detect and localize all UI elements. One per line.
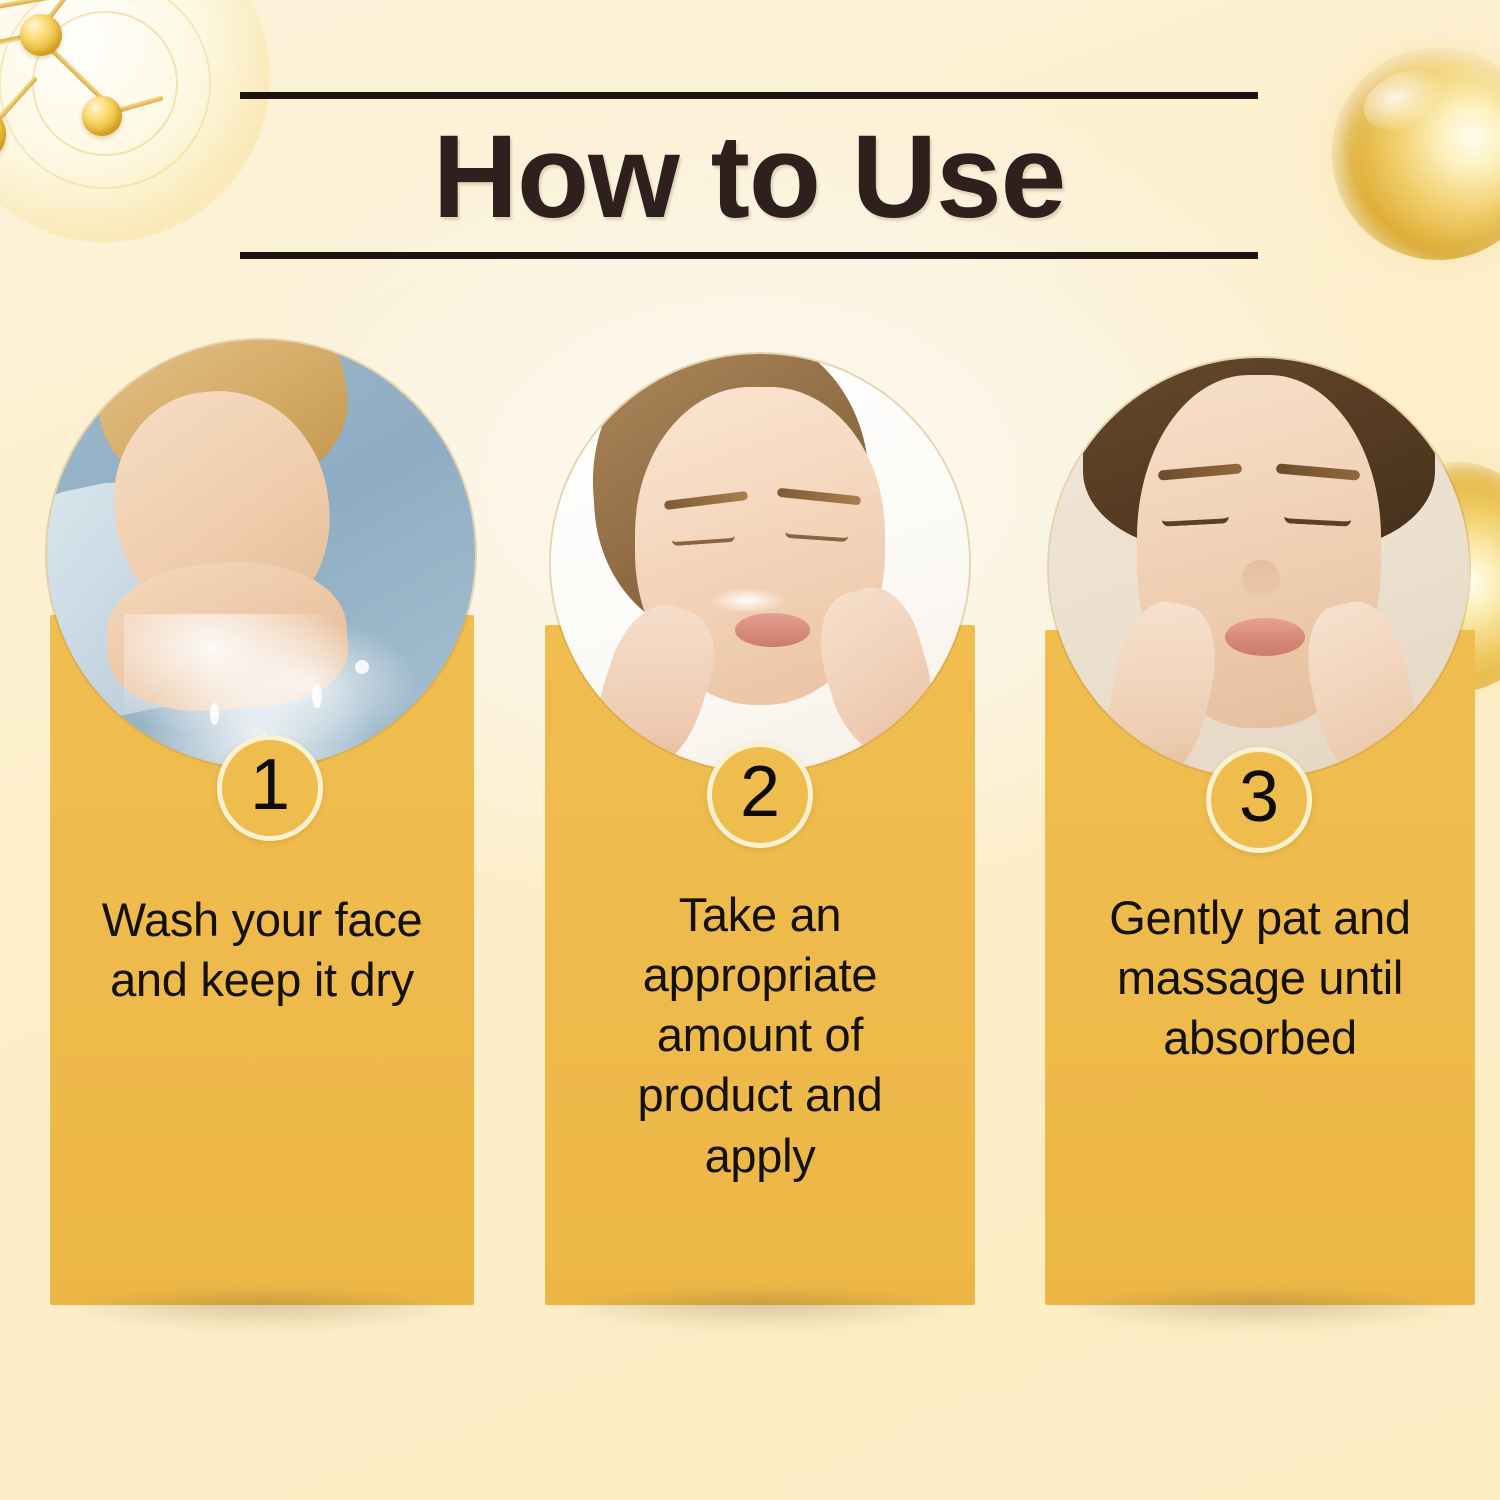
step-badge-2: 2 [707,742,813,848]
title-rule-bottom [240,252,1258,259]
molecule-atom [82,96,122,136]
step-caption-1: Wash your face and keep it dry [60,890,464,1010]
caption-line: massage until [1055,948,1465,1008]
molecule-bond [34,0,95,36]
caption-line: appropriate [555,945,965,1005]
step-caption-2: Take an appropriate amount of product an… [555,885,965,1186]
caption-line: absorbed [1055,1008,1465,1068]
lips-shape [1225,618,1305,656]
step-caption-3: Gently pat and massage until absorbed [1055,888,1465,1068]
caption-line: and keep it dry [60,950,464,1010]
oil-bubble-icon [1332,48,1500,260]
molecule-ripple-inner [32,11,177,156]
photo-scene [47,340,475,768]
molecule-ripple-outer [0,0,211,189]
infographic-canvas: How to Use 1 [0,0,1500,1500]
molecule-pool [0,0,270,242]
hand-shape [1094,594,1227,778]
water-drop [355,660,369,674]
page-title: How to Use [240,99,1258,252]
caption-line: Wash your face [60,890,464,950]
caption-line: product and [555,1065,965,1125]
lips-shape [735,613,810,646]
molecule-bond [34,33,105,102]
photo-scene [1049,358,1469,778]
step-number: 1 [250,749,290,821]
photo-wash-face [47,340,475,768]
caption-line: amount of [555,1005,965,1065]
molecule-bond [0,76,38,128]
title-rule-top [240,92,1258,99]
molecule-atom [20,14,62,56]
steps-row: 1 Wash your face and keep it dry [0,340,1500,1350]
caption-line: apply [555,1126,965,1186]
caption-line: Gently pat and [1055,888,1465,948]
molecule-bond [0,0,51,13]
header: How to Use [240,92,1258,259]
nose-shape [1242,560,1280,598]
step-number: 2 [740,756,780,828]
photo-scene [551,354,969,772]
caption-line: Take an [555,885,965,945]
hand-shape [1295,594,1428,778]
molecule-atom [0,106,6,162]
step-number: 3 [1239,761,1279,833]
photo-pat-massage [1049,358,1469,778]
step-badge-3: 3 [1206,747,1312,853]
photo-apply-product [551,354,969,772]
water-drop [210,703,219,725]
molecule-bond [89,95,163,121]
step-badge-1: 1 [217,735,323,841]
molecule-bond [0,32,37,55]
product-sheen [710,588,785,613]
molecule-graphic-icon [0,0,270,242]
